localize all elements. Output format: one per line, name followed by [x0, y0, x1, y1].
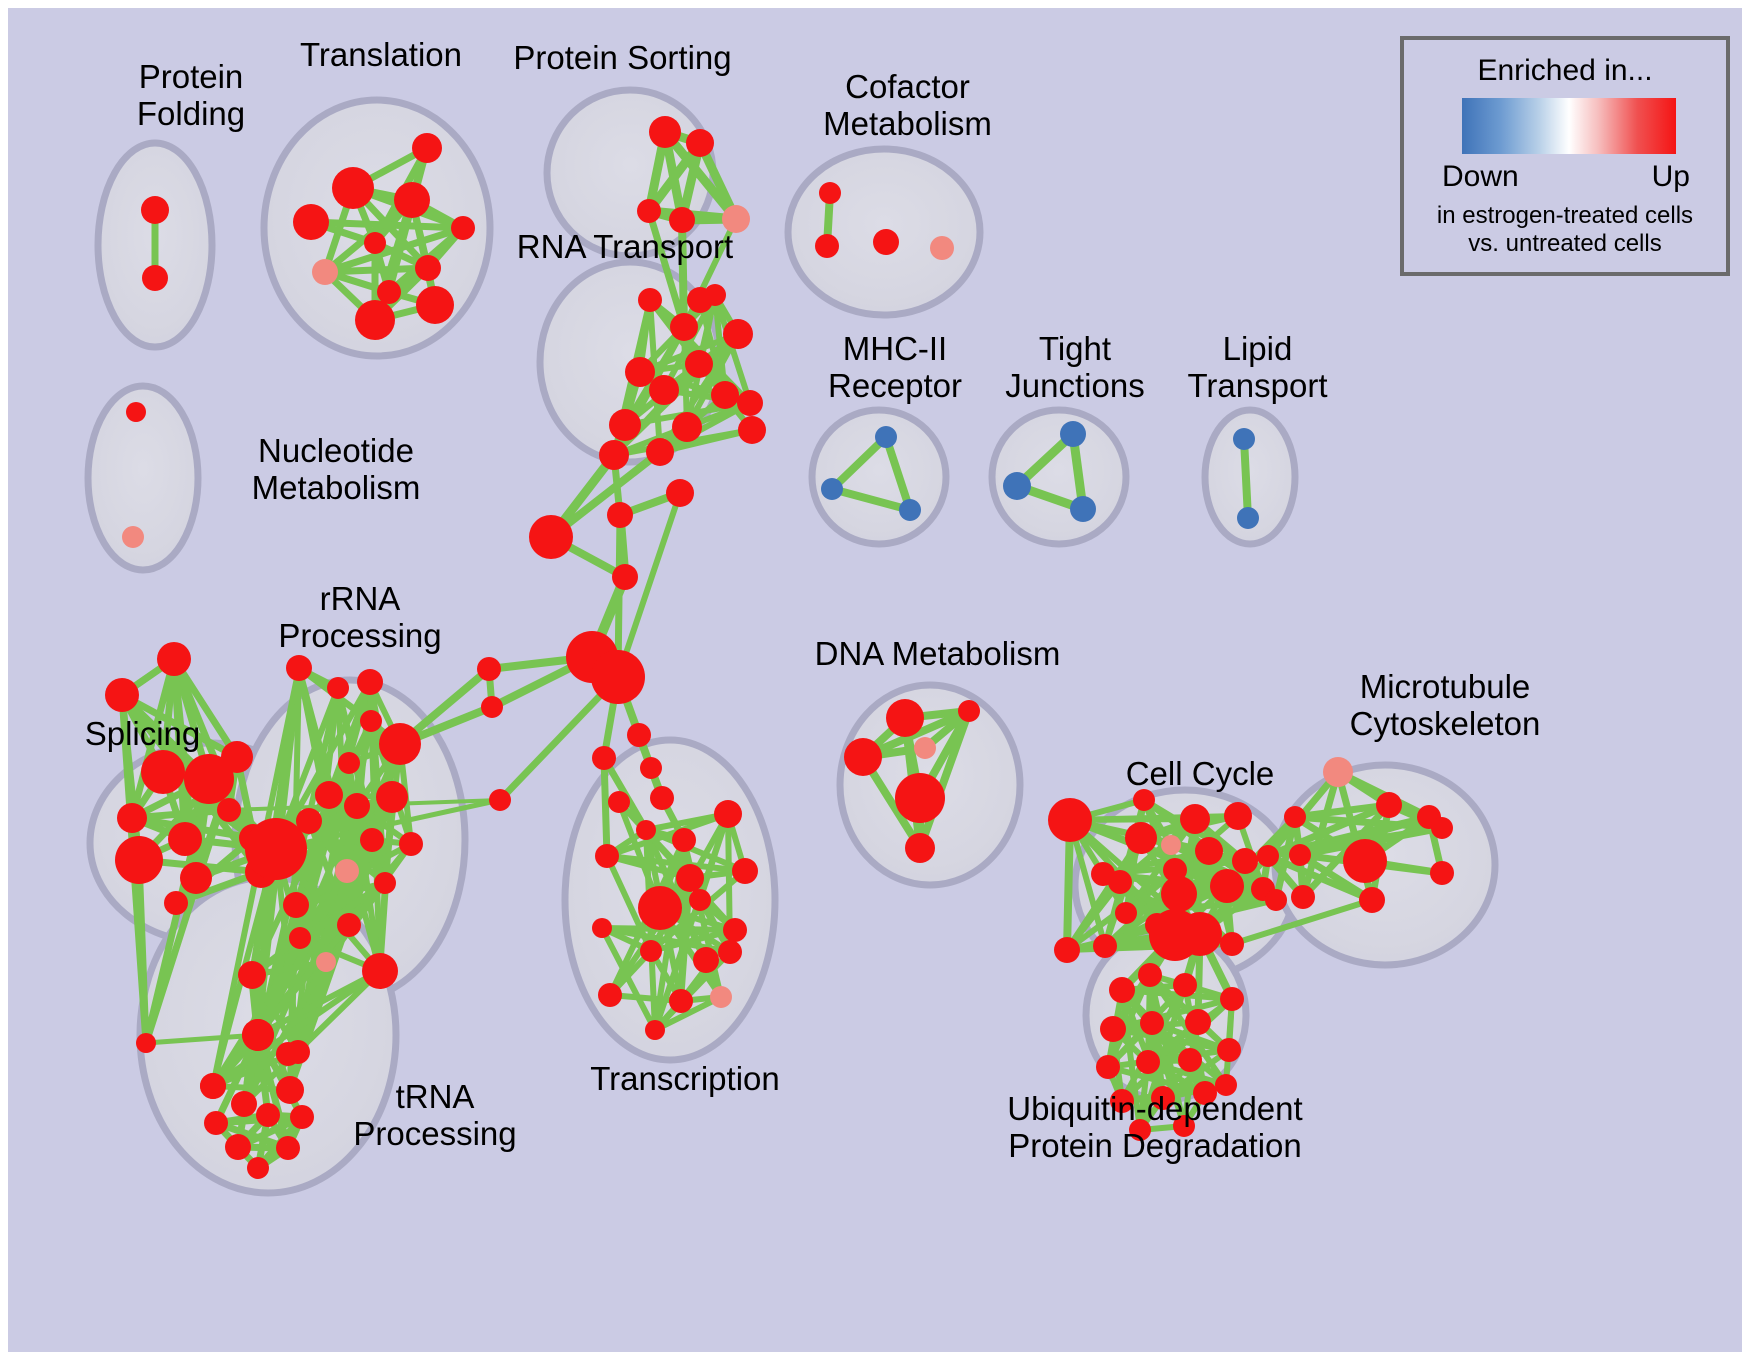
- network-node[interactable]: [200, 1073, 226, 1099]
- network-node[interactable]: [1180, 804, 1210, 834]
- network-node[interactable]: [666, 479, 694, 507]
- cluster-label-nucleotide-metabolism: Nucleotide Metabolism: [196, 432, 476, 506]
- network-node[interactable]: [672, 828, 696, 852]
- network-node[interactable]: [126, 402, 146, 422]
- network-node[interactable]: [710, 986, 732, 1008]
- network-node[interactable]: [332, 167, 374, 209]
- network-node[interactable]: [315, 781, 343, 809]
- network-node[interactable]: [1431, 817, 1453, 839]
- network-node[interactable]: [608, 791, 630, 813]
- network-node[interactable]: [355, 300, 395, 340]
- network-node[interactable]: [646, 438, 674, 466]
- network-node[interactable]: [344, 793, 370, 819]
- network-node[interactable]: [1048, 798, 1092, 842]
- network-node[interactable]: [364, 232, 386, 254]
- network-node[interactable]: [1096, 1055, 1120, 1079]
- network-node[interactable]: [638, 288, 662, 312]
- network-node[interactable]: [625, 357, 655, 387]
- network-node[interactable]: [377, 280, 401, 304]
- cluster-label-dna-metabolism: DNA Metabolism: [805, 635, 1070, 672]
- network-node[interactable]: [256, 1103, 280, 1127]
- network-node[interactable]: [416, 286, 454, 324]
- network-node[interactable]: [637, 199, 661, 223]
- network-node[interactable]: [723, 319, 753, 349]
- network-node[interactable]: [1359, 887, 1385, 913]
- network-node[interactable]: [1093, 934, 1117, 958]
- network-node[interactable]: [1138, 963, 1162, 987]
- network-node[interactable]: [242, 1019, 274, 1051]
- network-node[interactable]: [276, 1076, 304, 1104]
- network-node[interactable]: [136, 1033, 156, 1053]
- network-node[interactable]: [1003, 472, 1031, 500]
- network-node[interactable]: [595, 844, 619, 868]
- network-node[interactable]: [737, 390, 763, 416]
- network-node[interactable]: [1178, 1048, 1202, 1072]
- network-node[interactable]: [374, 872, 396, 894]
- network-node[interactable]: [1220, 932, 1244, 956]
- network-edge: [1244, 439, 1248, 518]
- network-node[interactable]: [1232, 848, 1258, 874]
- network-node[interactable]: [1291, 885, 1315, 909]
- network-node[interactable]: [1233, 428, 1255, 450]
- cluster-label-rrna-processing: rRNA Processing: [240, 580, 480, 654]
- network-node[interactable]: [592, 918, 612, 938]
- network-node[interactable]: [905, 833, 935, 863]
- network-node[interactable]: [815, 234, 839, 258]
- network-node[interactable]: [672, 412, 702, 442]
- network-node[interactable]: [640, 940, 662, 962]
- legend: Enriched in... Down Up in estrogen-treat…: [1400, 36, 1730, 276]
- cluster-label-mhc-ii-receptor: MHC-II Receptor: [795, 330, 995, 404]
- network-node[interactable]: [399, 832, 423, 856]
- network-node[interactable]: [1178, 912, 1222, 956]
- cluster-label-ubiquitin-protein-degradation: Ubiquitin-dependent Protein Degradation: [985, 1090, 1325, 1164]
- network-node[interactable]: [958, 700, 980, 722]
- network-node[interactable]: [1195, 837, 1223, 865]
- network-node[interactable]: [312, 259, 338, 285]
- network-node[interactable]: [415, 255, 441, 281]
- network-node[interactable]: [689, 889, 711, 911]
- network-node[interactable]: [599, 440, 629, 470]
- network-node[interactable]: [638, 886, 682, 930]
- network-node[interactable]: [204, 1111, 228, 1135]
- network-node[interactable]: [231, 1091, 257, 1117]
- network-node[interactable]: [357, 669, 383, 695]
- network-node[interactable]: [592, 746, 616, 770]
- network-node[interactable]: [1220, 987, 1244, 1011]
- network-node[interactable]: [723, 918, 747, 942]
- cluster-label-tight-junctions: Tight Junctions: [975, 330, 1175, 404]
- network-node[interactable]: [1257, 845, 1279, 867]
- network-node[interactable]: [1210, 869, 1244, 903]
- network-node[interactable]: [247, 1157, 269, 1179]
- network-node[interactable]: [115, 836, 163, 884]
- network-node[interactable]: [875, 426, 897, 448]
- figure-canvas: Protein Folding Translation Nucleotide M…: [0, 0, 1750, 1360]
- network-node[interactable]: [738, 416, 766, 444]
- cluster-label-rna-transport: RNA Transport: [510, 228, 740, 265]
- network-node[interactable]: [685, 350, 713, 378]
- network-node[interactable]: [844, 738, 882, 776]
- network-node[interactable]: [676, 864, 704, 892]
- network-node[interactable]: [1289, 844, 1311, 866]
- network-node[interactable]: [1100, 1016, 1126, 1042]
- network-node[interactable]: [1091, 862, 1115, 886]
- cluster-label-transcription: Transcription: [570, 1060, 800, 1097]
- cluster-label-protein-sorting: Protein Sorting: [505, 39, 740, 76]
- network-node[interactable]: [1237, 507, 1259, 529]
- network-node[interactable]: [337, 913, 361, 937]
- network-node[interactable]: [612, 564, 638, 590]
- network-node[interactable]: [704, 284, 726, 306]
- network-node[interactable]: [293, 204, 329, 240]
- network-node[interactable]: [914, 737, 936, 759]
- network-node[interactable]: [640, 757, 662, 779]
- network-node[interactable]: [819, 182, 841, 204]
- cluster-label-lipid-transport: Lipid Transport: [1155, 330, 1360, 404]
- network-node[interactable]: [327, 677, 349, 699]
- network-node[interactable]: [649, 375, 679, 405]
- network-node[interactable]: [184, 754, 234, 804]
- network-node[interactable]: [122, 526, 144, 548]
- network-node[interactable]: [276, 1042, 300, 1066]
- network-node[interactable]: [168, 822, 202, 856]
- network-node[interactable]: [481, 696, 503, 718]
- network-node[interactable]: [157, 642, 191, 676]
- network-node[interactable]: [1265, 889, 1287, 911]
- network-node[interactable]: [607, 502, 633, 528]
- network-node[interactable]: [686, 129, 714, 157]
- network-node[interactable]: [290, 1105, 314, 1129]
- network-node[interactable]: [1060, 421, 1086, 447]
- network-node[interactable]: [1217, 1038, 1241, 1062]
- network-node[interactable]: [141, 750, 185, 794]
- network-node[interactable]: [1185, 1009, 1211, 1035]
- network-node[interactable]: [598, 983, 622, 1007]
- network-node[interactable]: [1161, 835, 1181, 855]
- network-node[interactable]: [670, 313, 698, 341]
- network-node[interactable]: [895, 773, 945, 823]
- network-node[interactable]: [1161, 876, 1197, 912]
- network-node[interactable]: [1140, 1011, 1164, 1035]
- network-node[interactable]: [609, 409, 641, 441]
- network-node[interactable]: [886, 699, 924, 737]
- network-node[interactable]: [376, 781, 408, 813]
- legend-color-gradient-bar: [1462, 98, 1676, 154]
- network-node[interactable]: [1323, 757, 1353, 787]
- network-node[interactable]: [1136, 1050, 1160, 1074]
- network-node[interactable]: [477, 657, 501, 681]
- network-node[interactable]: [1343, 839, 1387, 883]
- network-node[interactable]: [142, 265, 168, 291]
- network-node[interactable]: [164, 891, 188, 915]
- cluster-label-protein-folding: Protein Folding: [86, 58, 296, 132]
- network-node[interactable]: [714, 800, 742, 828]
- network-node[interactable]: [362, 953, 398, 989]
- network-node[interactable]: [1284, 806, 1306, 828]
- network-node[interactable]: [412, 133, 442, 163]
- cluster-label-cell-cycle: Cell Cycle: [1100, 755, 1300, 792]
- network-node[interactable]: [338, 752, 360, 774]
- network-node[interactable]: [105, 678, 139, 712]
- network-node[interactable]: [451, 216, 475, 240]
- network-node[interactable]: [360, 710, 382, 732]
- network-node[interactable]: [529, 515, 573, 559]
- network-node[interactable]: [1125, 822, 1157, 854]
- network-node[interactable]: [1224, 802, 1252, 830]
- network-node[interactable]: [225, 1134, 251, 1160]
- network-node[interactable]: [1070, 496, 1096, 522]
- network-node[interactable]: [360, 828, 384, 852]
- network-node[interactable]: [1109, 977, 1135, 1003]
- network-edge: [325, 268, 428, 272]
- network-node[interactable]: [591, 650, 645, 704]
- network-node[interactable]: [217, 798, 241, 822]
- network-node[interactable]: [1376, 792, 1402, 818]
- network-node[interactable]: [873, 229, 899, 255]
- network-node[interactable]: [283, 892, 309, 918]
- network-node[interactable]: [1054, 937, 1080, 963]
- network-node[interactable]: [718, 940, 742, 964]
- network-node[interactable]: [1430, 861, 1454, 885]
- legend-subtitle: in estrogen-treated cells vs. untreated …: [1404, 202, 1726, 258]
- network-node[interactable]: [238, 961, 266, 989]
- cluster-label-trna-processing: tRNA Processing: [315, 1078, 555, 1152]
- network-node[interactable]: [379, 723, 421, 765]
- cluster-label-microtubule-cytoskeleton: Microtubule Cytoskeleton: [1305, 668, 1585, 742]
- cluster-label-translation: Translation: [266, 36, 496, 73]
- network-node[interactable]: [899, 499, 921, 521]
- network-node[interactable]: [693, 947, 719, 973]
- network-node[interactable]: [286, 655, 312, 681]
- network-node[interactable]: [289, 927, 311, 949]
- network-node[interactable]: [489, 789, 511, 811]
- network-node[interactable]: [732, 858, 758, 884]
- network-edge: [604, 758, 607, 856]
- network-node[interactable]: [1173, 973, 1197, 997]
- network-node[interactable]: [1133, 789, 1155, 811]
- network-node[interactable]: [930, 236, 954, 260]
- network-node[interactable]: [645, 1020, 665, 1040]
- network-node[interactable]: [276, 1136, 300, 1160]
- network-node[interactable]: [649, 116, 681, 148]
- network-node[interactable]: [669, 989, 693, 1013]
- network-node[interactable]: [650, 786, 674, 810]
- network-node[interactable]: [627, 723, 651, 747]
- network-node[interactable]: [141, 196, 169, 224]
- network-node[interactable]: [1115, 902, 1137, 924]
- legend-down-label: Down: [1442, 160, 1519, 194]
- network-node[interactable]: [316, 952, 336, 972]
- network-node[interactable]: [335, 859, 359, 883]
- network-node[interactable]: [245, 818, 307, 880]
- network-node[interactable]: [394, 182, 430, 218]
- network-node[interactable]: [636, 820, 656, 840]
- cluster-label-cofactor-metabolism: Cofactor Metabolism: [790, 68, 1025, 142]
- cluster-label-splicing: Splicing: [55, 715, 230, 752]
- network-node[interactable]: [711, 381, 739, 409]
- legend-title: Enriched in...: [1404, 54, 1726, 88]
- network-node[interactable]: [117, 803, 147, 833]
- legend-up-label: Up: [1652, 160, 1690, 194]
- network-node[interactable]: [180, 862, 212, 894]
- network-node[interactable]: [821, 478, 843, 500]
